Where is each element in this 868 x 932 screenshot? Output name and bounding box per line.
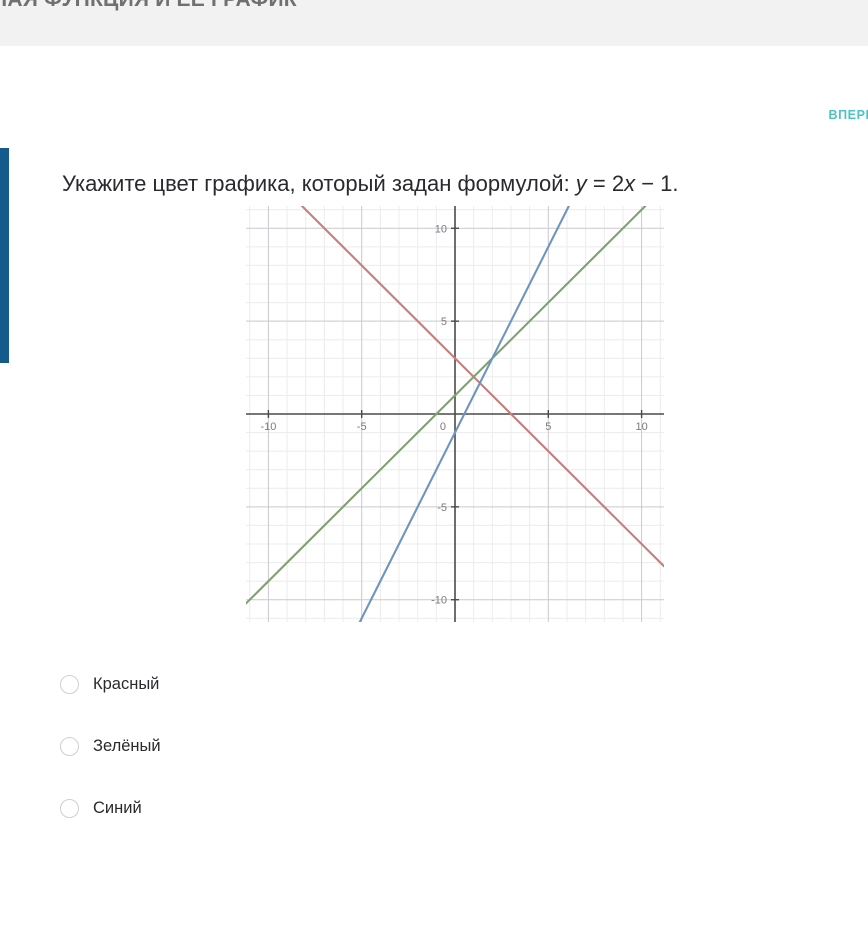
x-tick-label: 10	[635, 421, 647, 433]
formula-eq: = 2	[587, 171, 624, 196]
left-accent-bar	[0, 148, 9, 363]
formula-x: x	[624, 171, 635, 196]
question-prompt: Укажите цвет графика, который задан форм…	[62, 171, 576, 196]
question-text: Укажите цвет графика, который задан форм…	[62, 170, 679, 199]
radio-button-1[interactable]	[60, 737, 79, 756]
x-tick-label: -5	[357, 421, 367, 433]
option-label-0: Красный	[93, 675, 159, 694]
formula-tail: − 1.	[635, 171, 678, 196]
x-tick-label: -10	[260, 421, 276, 433]
x-tick-label: 0	[440, 421, 446, 433]
answer-options: Красный Зелёный Синий	[60, 668, 480, 854]
y-tick-label: -5	[437, 502, 447, 514]
formula-y: y	[576, 171, 587, 196]
y-tick-label: -10	[431, 595, 447, 607]
option-label-2: Синий	[93, 799, 142, 818]
radio-button-2[interactable]	[60, 799, 79, 818]
question-formula: y = 2x − 1.	[576, 171, 679, 196]
y-tick-label: 5	[441, 316, 447, 328]
option-row-0[interactable]: Красный	[60, 668, 480, 700]
x-tick-label: 5	[545, 421, 551, 433]
page-title: НАЯ ФУНКЦИЯ И ЕЁ ГРАФИК	[0, 0, 297, 12]
option-label-1: Зелёный	[93, 737, 161, 756]
page-header-band: НАЯ ФУНКЦИЯ И ЕЁ ГРАФИК	[0, 0, 868, 46]
option-row-1[interactable]: Зелёный	[60, 730, 480, 762]
forward-link[interactable]: ВПЕРЁД	[828, 108, 868, 122]
option-row-2[interactable]: Синий	[60, 792, 480, 824]
radio-button-0[interactable]	[60, 675, 79, 694]
graph-svg: -10-50510105-5-10	[246, 206, 664, 622]
coordinate-plane-graph: -10-50510105-5-10	[246, 206, 664, 622]
y-tick-label: 10	[435, 223, 447, 235]
